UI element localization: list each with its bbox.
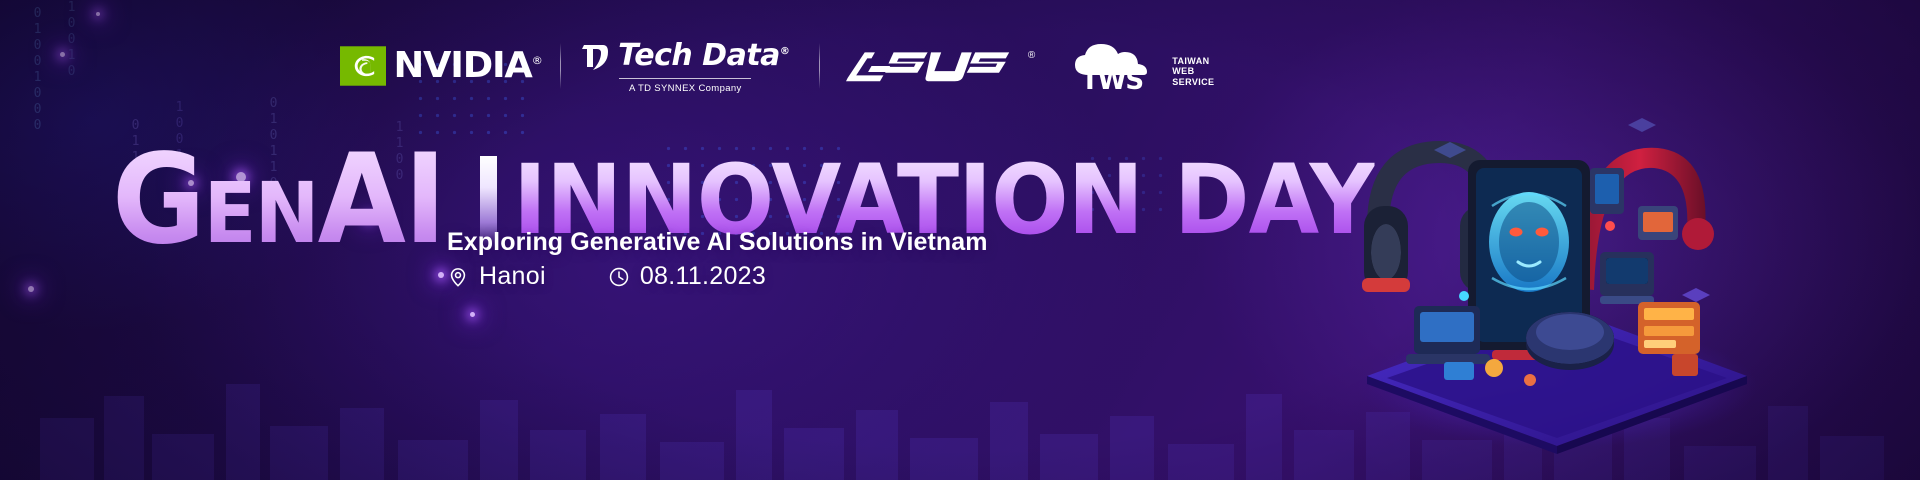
glow-dot bbox=[28, 286, 34, 292]
asus-registered-mark: ® bbox=[1028, 50, 1035, 61]
tws-line-2: WEB bbox=[1172, 66, 1214, 77]
logo-divider bbox=[819, 43, 820, 89]
event-location-text: Hanoi bbox=[479, 262, 546, 291]
tech-data-tagline: A TD SYNNEX Company bbox=[629, 83, 742, 94]
headline-en: EN bbox=[204, 164, 318, 262]
tech-data-lockup: Tech Data® bbox=[581, 39, 789, 73]
glow-dot bbox=[60, 52, 65, 57]
headline-genai: GENAI bbox=[112, 148, 445, 265]
techdata-td-mark-icon bbox=[581, 39, 611, 73]
tws-service-lines: TAIWAN WEB SERVICE bbox=[1172, 56, 1214, 92]
glow-dot bbox=[438, 272, 444, 278]
event-location: Hanoi bbox=[447, 262, 546, 291]
nvidia-eye-icon bbox=[340, 46, 386, 86]
partner-logo-row: NVIDIA® Tech Data® A TD SYNNEX Company bbox=[340, 36, 1214, 96]
event-subtitle: Exploring Generative AI Solutions in Vie… bbox=[447, 228, 988, 257]
event-date-text: 08.11.2023 bbox=[640, 262, 766, 291]
glow-dot bbox=[470, 312, 475, 317]
headline-ai: AI bbox=[318, 128, 445, 272]
svg-text:TWS: TWS bbox=[1081, 66, 1143, 91]
tech-data-registered-mark: ® bbox=[780, 46, 790, 57]
clock-icon bbox=[608, 266, 630, 288]
tws-line-1: TAIWAN bbox=[1172, 56, 1214, 67]
event-date: 08.11.2023 bbox=[608, 262, 766, 291]
event-meta-row: Hanoi 08.11.2023 bbox=[447, 262, 766, 291]
tech-data-rule bbox=[619, 78, 751, 79]
nvidia-wordmark-text: NVIDIA bbox=[394, 45, 532, 86]
tws-line-3: SERVICE bbox=[1172, 77, 1214, 88]
binary-stream: 01001000 bbox=[30, 6, 45, 134]
headline-g: G bbox=[112, 128, 204, 272]
nvidia-wordmark: NVIDIA® bbox=[394, 48, 542, 84]
logo-divider bbox=[560, 43, 561, 89]
logo-nvidia: NVIDIA® bbox=[340, 46, 540, 86]
tws-lockup: TWS bbox=[1069, 41, 1165, 91]
logo-tech-data: Tech Data® A TD SYNNEX Company bbox=[581, 39, 789, 94]
glow-dot bbox=[96, 12, 100, 16]
genai-innovation-day-banner: 01001000 10010 0110 1001 0101101 1100 bbox=[0, 0, 1920, 480]
nvidia-registered-mark: ® bbox=[532, 54, 542, 67]
binary-stream: 10010 bbox=[64, 0, 79, 80]
tech-data-wordmark: Tech Data® bbox=[618, 41, 789, 71]
location-pin-icon bbox=[447, 266, 469, 288]
tech-data-wordmark-text: Tech Data bbox=[618, 38, 780, 73]
tws-cloud-icon: TWS bbox=[1069, 41, 1165, 91]
logo-tws: TWS TAIWAN WEB SERVICE bbox=[1069, 41, 1214, 91]
logo-asus: ® bbox=[846, 49, 1035, 83]
asus-wordmark-icon bbox=[846, 49, 1025, 83]
